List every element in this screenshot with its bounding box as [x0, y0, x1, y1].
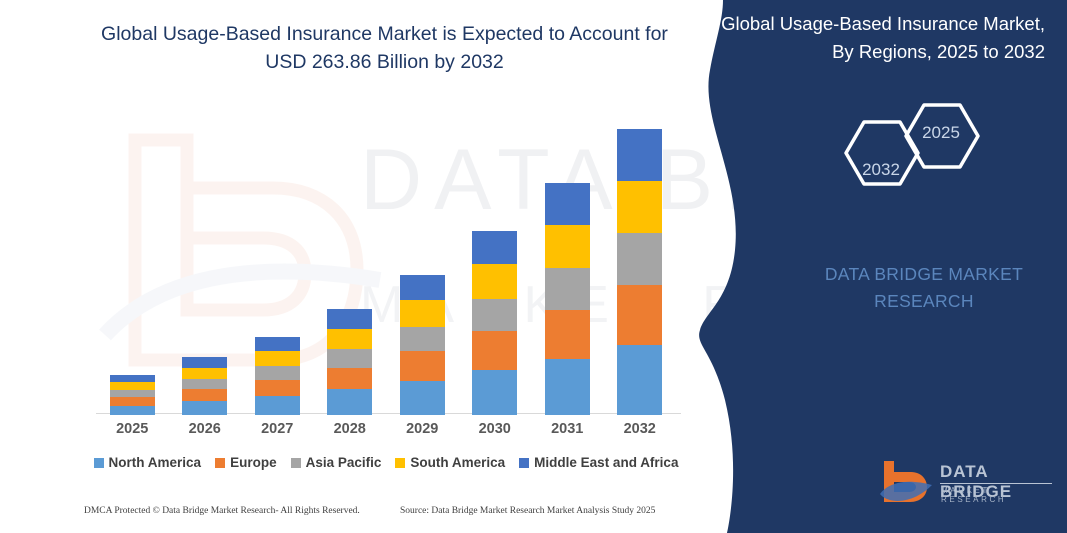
panel-brand-line1: DATA BRIDGE MARKET — [825, 264, 1023, 284]
bar-segment-south-america — [182, 368, 227, 379]
bar-segment-europe — [545, 310, 590, 359]
legend-label: North America — [109, 455, 202, 470]
logo-divider — [940, 483, 1052, 484]
bar-segment-asia-pacific — [182, 379, 227, 389]
chart-x-axis-labels: 20252026202720282029203020312032 — [96, 421, 676, 443]
bar-segment-asia-pacific — [327, 349, 372, 368]
x-axis-label-2030: 2030 — [459, 421, 531, 437]
bar-segment-europe — [472, 331, 517, 370]
legend-item-middle-east-and-africa[interactable]: Middle East and Africa — [519, 455, 678, 470]
x-axis-label-2027: 2027 — [241, 421, 313, 437]
footer: DMCA Protected © Data Bridge Market Rese… — [0, 506, 700, 526]
infographic-root: DATA BRIDGE MARKET RESEARCH Global Usage… — [0, 0, 1067, 533]
hexagon-group: 2032 2025 — [828, 98, 1008, 208]
footer-copyright: DMCA Protected © Data Bridge Market Rese… — [84, 506, 360, 516]
bar-segment-asia-pacific — [400, 327, 445, 352]
panel-title-line2: By Regions, 2025 to 2032 — [832, 41, 1045, 62]
bar-segment-south-america — [545, 225, 590, 268]
bar-segment-europe — [110, 397, 155, 406]
bar-segment-north-america — [255, 396, 300, 415]
bar-segment-europe — [400, 351, 445, 381]
bar-segment-asia-pacific — [617, 233, 662, 284]
bar-segment-europe — [182, 389, 227, 401]
bar-segment-south-america — [617, 181, 662, 234]
bar-segment-north-america — [400, 381, 445, 415]
bar-segment-south-america — [327, 329, 372, 349]
bar-segment-middle-east-and-africa — [255, 337, 300, 352]
bar-segment-middle-east-and-africa — [110, 375, 155, 383]
legend-item-asia-pacific[interactable]: Asia Pacific — [291, 455, 382, 470]
legend-item-north-america[interactable]: North America — [94, 455, 202, 470]
panel-title: Global Usage-Based Insurance Market, By … — [715, 10, 1045, 66]
bar-2026 — [182, 357, 227, 415]
panel-brand-line2: RESEARCH — [874, 291, 974, 311]
bar-segment-middle-east-and-africa — [472, 231, 517, 264]
bar-2029 — [400, 275, 445, 415]
bar-segment-asia-pacific — [255, 366, 300, 380]
panel-brand-text: DATA BRIDGE MARKET RESEARCH — [790, 261, 1058, 315]
bar-segment-north-america — [110, 406, 155, 415]
hexagon-label-left: 2032 — [858, 160, 904, 180]
footer-source: Source: Data Bridge Market Research Mark… — [400, 506, 655, 516]
bar-2032 — [617, 129, 662, 415]
bar-2027 — [255, 337, 300, 415]
bar-segment-south-america — [110, 382, 155, 390]
bar-segment-south-america — [400, 300, 445, 326]
bar-segment-asia-pacific — [110, 390, 155, 397]
x-axis-label-2026: 2026 — [169, 421, 241, 437]
x-axis-label-2025: 2025 — [96, 421, 168, 437]
legend-swatch-icon — [215, 458, 225, 468]
legend-swatch-icon — [291, 458, 301, 468]
x-axis-label-2031: 2031 — [531, 421, 603, 437]
x-axis-label-2028: 2028 — [314, 421, 386, 437]
bar-segment-europe — [327, 368, 372, 390]
panel-title-line1: Global Usage-Based Insurance Market, — [721, 13, 1045, 34]
legend-label: Middle East and Africa — [534, 455, 678, 470]
hexagon-label-right: 2025 — [918, 123, 964, 143]
x-axis-label-2032: 2032 — [604, 421, 676, 437]
bar-segment-north-america — [327, 389, 372, 415]
legend-item-europe[interactable]: Europe — [215, 455, 277, 470]
chart-title: Global Usage-Based Insurance Market is E… — [92, 20, 677, 77]
bar-segment-north-america — [472, 370, 517, 415]
bar-segment-middle-east-and-africa — [617, 129, 662, 180]
bar-2025 — [110, 375, 155, 415]
legend-label: Asia Pacific — [306, 455, 382, 470]
bar-segment-north-america — [545, 359, 590, 415]
bar-segment-asia-pacific — [545, 268, 590, 310]
bar-segment-north-america — [182, 401, 227, 415]
bar-segment-middle-east-and-africa — [182, 357, 227, 368]
legend-label: Europe — [230, 455, 277, 470]
bar-segment-europe — [617, 285, 662, 346]
bar-segment-middle-east-and-africa — [327, 309, 372, 328]
hexagon-shapes-icon — [828, 98, 1008, 208]
legend-swatch-icon — [94, 458, 104, 468]
bar-segment-middle-east-and-africa — [545, 183, 590, 225]
legend-swatch-icon — [395, 458, 405, 468]
chart-legend: North AmericaEuropeAsia PacificSouth Ame… — [96, 455, 676, 470]
bar-segment-europe — [255, 380, 300, 396]
legend-label: South America — [410, 455, 505, 470]
logo-text-sub: MARKET RESEARCH — [941, 486, 1058, 504]
bar-segment-north-america — [617, 345, 662, 415]
legend-item-south-america[interactable]: South America — [395, 455, 505, 470]
stacked-bar-chart — [96, 120, 676, 415]
bar-segment-south-america — [255, 351, 300, 366]
bar-segment-south-america — [472, 264, 517, 298]
bar-2028 — [327, 309, 372, 415]
legend-swatch-icon — [519, 458, 529, 468]
bar-segment-middle-east-and-africa — [400, 275, 445, 301]
data-bridge-logo-icon — [878, 458, 934, 504]
bar-segment-asia-pacific — [472, 299, 517, 332]
bar-2030 — [472, 231, 517, 415]
bar-2031 — [545, 183, 590, 415]
x-axis-label-2029: 2029 — [386, 421, 458, 437]
company-logo: DATA BRIDGE MARKET RESEARCH — [878, 458, 1058, 508]
